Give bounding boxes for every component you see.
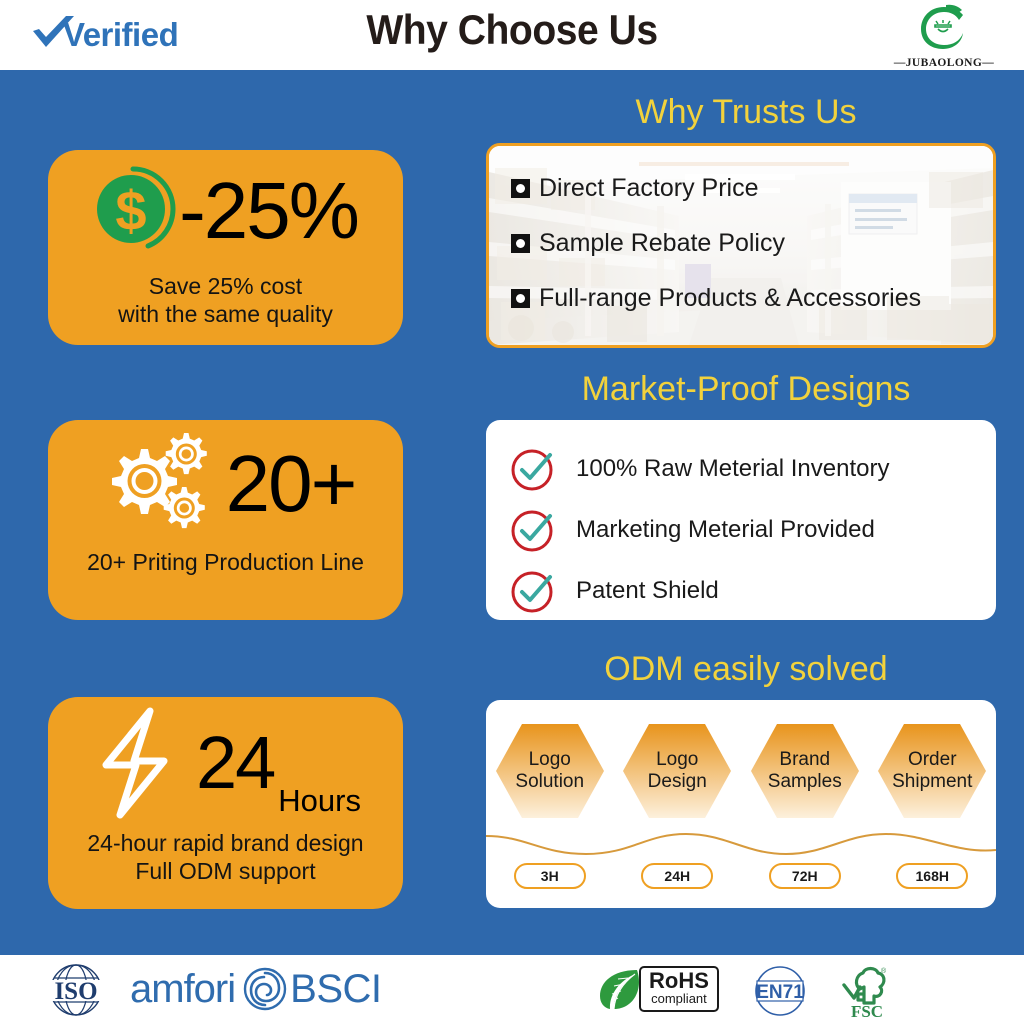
certification-amfori-bsci: amfori BSCI [130, 967, 382, 1011]
market-item-label: Patent Shield [576, 577, 719, 605]
section-title-trust: Why Trusts Us [486, 95, 1006, 129]
wavy-timeline-icon [486, 828, 996, 862]
market-item-label: Marketing Meterial Provided [576, 516, 875, 544]
card-discount: $ -25% Save 25% cost with the same quali… [48, 150, 403, 345]
odm-step: Order Shipment [876, 722, 988, 820]
trust-list: Direct Factory Price Sample Rebate Polic… [489, 146, 993, 313]
odm-step-line1: Logo [656, 749, 698, 771]
odm-step-line1: Order [908, 749, 957, 771]
odm-step-line1: Logo [529, 749, 571, 771]
svg-text:$: $ [116, 179, 147, 242]
dollar-coin-icon: $ [93, 163, 189, 259]
section-title-market: Market-Proof Designs [486, 372, 1006, 406]
hours-caption-line2: Full ODM support [87, 857, 363, 885]
check-circle-icon [508, 444, 558, 494]
hours-value: 24 [196, 728, 274, 798]
square-bullet-icon [511, 179, 530, 198]
rohs-label: RoHS [649, 970, 709, 992]
footer-certifications: ISO amfori BSCI RoHS compliant [0, 955, 1024, 1025]
odm-step-label: Logo Solution [494, 722, 606, 820]
list-item: Patent Shield [508, 560, 996, 621]
discount-caption: Save 25% cost with the same quality [118, 272, 333, 328]
iso-label: ISO [54, 978, 97, 1005]
odm-step-label: Order Shipment [876, 722, 988, 820]
certification-en71: EN71 [752, 965, 808, 1017]
square-bullet-icon [511, 234, 530, 253]
page-title: Why Choose Us [36, 6, 988, 54]
odm-step: Logo Solution [494, 722, 606, 820]
green-leaf-icon [595, 965, 643, 1013]
bsci-spiral-icon [243, 967, 287, 1011]
rohs-badge: RoHS compliant [639, 966, 719, 1011]
check-circle-icon [508, 505, 558, 555]
trust-item-label: Full-range Products & Accessories [539, 284, 921, 313]
check-circle-icon [508, 566, 558, 616]
list-item: Direct Factory Price [511, 174, 993, 203]
list-item: Marketing Meterial Provided [508, 499, 996, 560]
hours-caption: 24-hour rapid brand design Full ODM supp… [87, 829, 363, 885]
dragon-circle-logo [916, 3, 972, 53]
section-title-odm: ODM easily solved [486, 652, 1006, 686]
list-item: 100% Raw Meterial Inventory [508, 438, 996, 499]
lines-caption: 20+ Priting Production Line [87, 548, 364, 576]
certification-iso: ISO [38, 963, 114, 1017]
brand-logo: —JUBAOLONG— [884, 3, 1004, 69]
infographic-page: Verified Why Choose Us —JUBAOLONG— $ -25… [0, 0, 1024, 1025]
odm-step-row: Logo Solution Logo Design Brand [486, 722, 996, 820]
list-item: Sample Rebate Policy [511, 229, 993, 258]
panel-odm: Logo Solution Logo Design Brand [486, 700, 996, 908]
fsc-label: FSC [851, 1002, 883, 1019]
brand-name: —JUBAOLONG— [884, 57, 1004, 69]
lightning-bolt-icon [90, 703, 182, 823]
odm-step-line2: Samples [768, 771, 842, 793]
discount-caption-line2: with the same quality [118, 300, 333, 328]
gears-icon [96, 425, 220, 543]
certification-rohs: RoHS compliant [595, 965, 719, 1013]
discount-value: -25% [179, 173, 358, 249]
en71-label: EN71 [756, 982, 804, 1003]
trust-item-label: Direct Factory Price [539, 174, 758, 203]
iso-globe-icon: ISO [38, 963, 114, 1017]
panel-trust: Direct Factory Price Sample Rebate Polic… [486, 143, 996, 348]
odm-time-badge: 168H [896, 863, 968, 889]
odm-time-badge: 3H [514, 863, 586, 889]
card-production-lines: 20+ 20+ Priting Production Line [48, 420, 403, 620]
panel-market: 100% Raw Meterial Inventory Marketing Me… [486, 420, 996, 620]
lines-caption-line1: 20+ Priting Production Line [87, 548, 364, 576]
lines-value: 20+ [226, 446, 356, 522]
odm-step-line2: Shipment [892, 771, 972, 793]
rohs-sublabel: compliant [649, 992, 709, 1006]
svg-text:®: ® [881, 967, 887, 975]
odm-step: Logo Design [621, 722, 733, 820]
odm-step-label: Logo Design [621, 722, 733, 820]
amfori-label: amfori [130, 969, 235, 1009]
odm-time-badge: 24H [641, 863, 713, 889]
header-bar: Verified Why Choose Us —JUBAOLONG— [0, 0, 1024, 70]
market-item-label: 100% Raw Meterial Inventory [576, 455, 889, 483]
odm-step-line1: Brand [779, 749, 830, 771]
bsci-label: BSCI [290, 969, 381, 1009]
certification-fsc: ® FSC [838, 963, 896, 1019]
odm-time-row: 3H 24H 72H 168H [486, 863, 996, 889]
odm-step: Brand Samples [749, 722, 861, 820]
odm-step-line2: Design [648, 771, 707, 793]
list-item: Full-range Products & Accessories [511, 284, 993, 313]
en71-circle-icon: EN71 [752, 965, 808, 1017]
fsc-tree-icon: ® FSC [838, 963, 896, 1019]
square-bullet-icon [511, 289, 530, 308]
discount-caption-line1: Save 25% cost [118, 272, 333, 300]
odm-step-line2: Solution [515, 771, 584, 793]
hours-unit: Hours [278, 783, 361, 829]
hours-caption-line1: 24-hour rapid brand design [87, 829, 363, 857]
trust-item-label: Sample Rebate Policy [539, 229, 785, 258]
odm-step-label: Brand Samples [749, 722, 861, 820]
card-turnaround: 24 Hours 24-hour rapid brand design Full… [48, 697, 403, 909]
odm-time-badge: 72H [769, 863, 841, 889]
